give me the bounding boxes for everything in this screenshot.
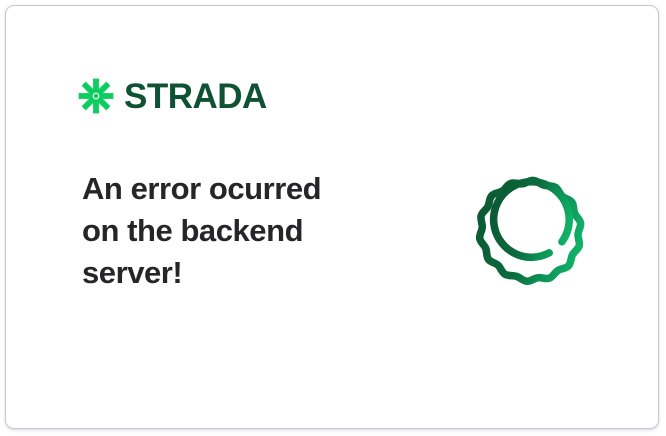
- error-message-line-1: An error ocurred: [82, 168, 382, 210]
- gear-cog-icon: [449, 146, 617, 314]
- error-message-line-3: server!: [82, 252, 382, 294]
- strada-asterisk-icon: [78, 78, 114, 114]
- error-message-line-2: on the backend: [82, 210, 382, 252]
- brand-lockup: STRADA: [78, 74, 267, 118]
- app-screen: STRADA An error ocurred on the backend s…: [0, 0, 666, 436]
- error-card: STRADA An error ocurred on the backend s…: [5, 5, 659, 429]
- brand-wordmark: STRADA: [124, 79, 267, 114]
- error-message: An error ocurred on the backend server!: [82, 168, 382, 294]
